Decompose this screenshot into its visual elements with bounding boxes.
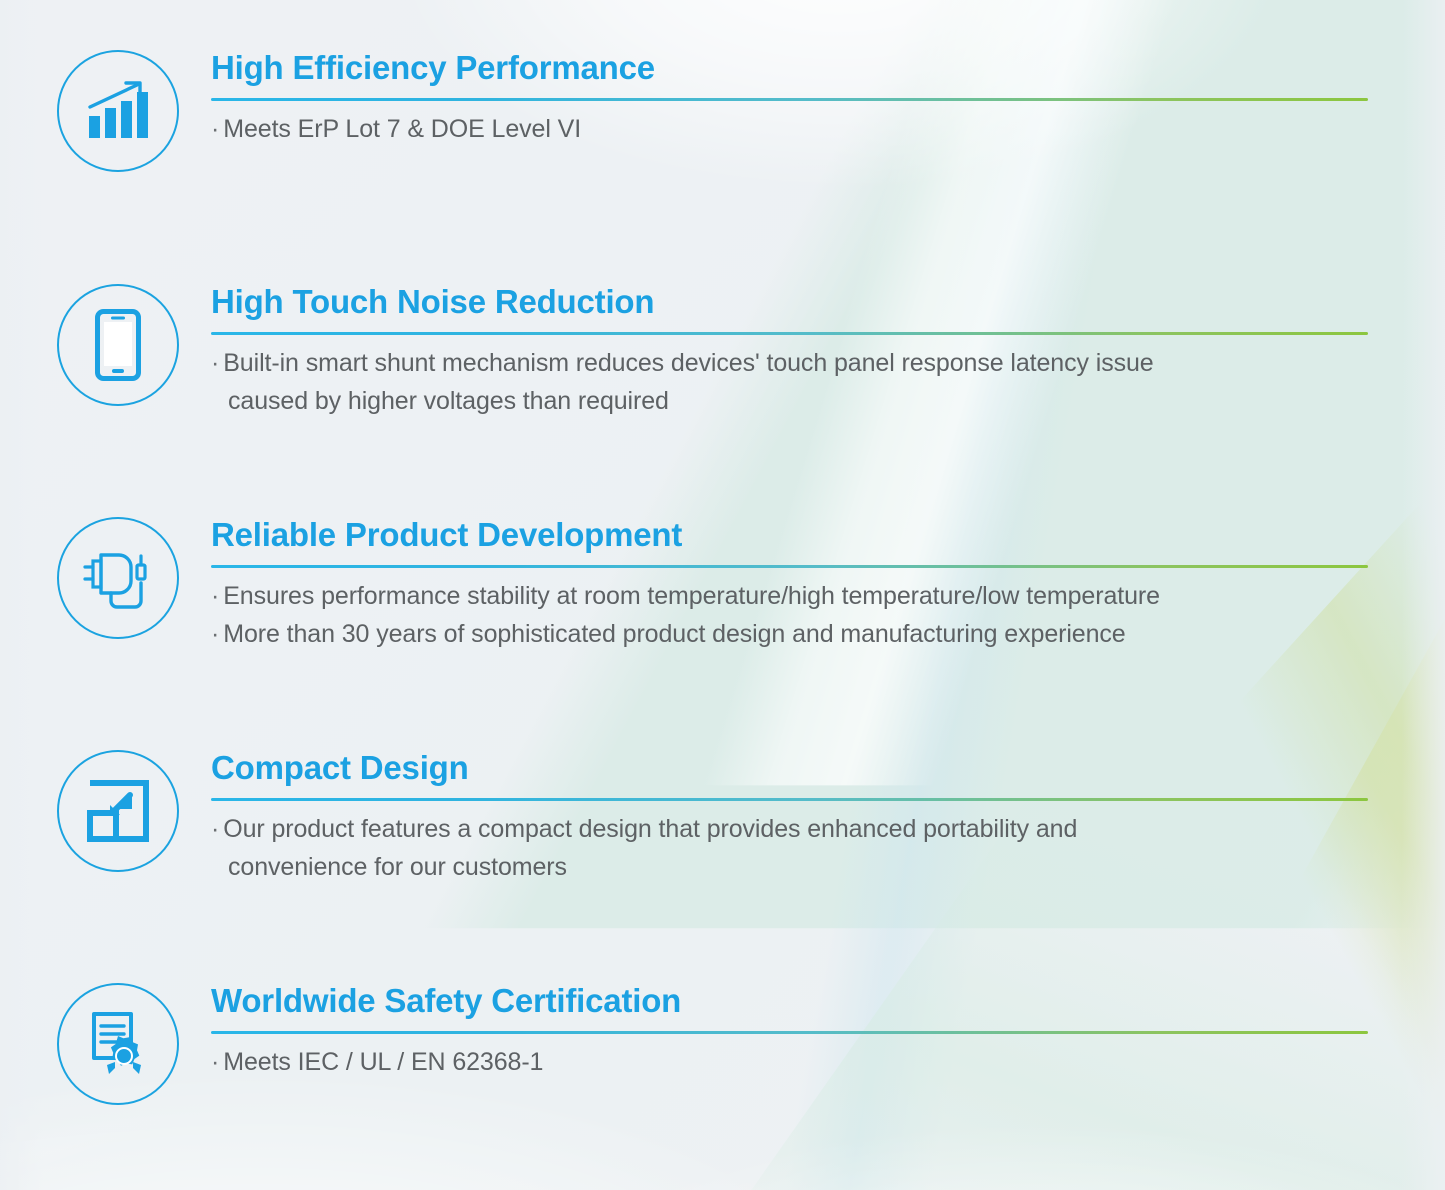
- feature-bullet-line: ·Built-in smart shunt mechanism reduces …: [211, 345, 1369, 420]
- feature-bullet-line: ·More than 30 years of sophisticated pro…: [211, 616, 1369, 654]
- bullet-marker: ·: [211, 582, 223, 610]
- bullet-marker: ·: [211, 349, 223, 377]
- bullet-marker: ·: [211, 620, 223, 648]
- feature-title: Worldwide Safety Certification: [211, 983, 1369, 1019]
- feature-text-block: High Efficiency Performance ·Meets ErP L…: [211, 50, 1369, 149]
- feature-divider-rule: [211, 1031, 1368, 1034]
- feature-bullet-line: ·Ensures performance stability at room t…: [211, 578, 1369, 616]
- bullet-text-continuation: caused by higher voltages than required: [211, 383, 1369, 421]
- bullet-text: Built-in smart shunt mechanism reduces d…: [223, 349, 1153, 377]
- feature-icon-container: [57, 50, 179, 172]
- feature-bullet-list: ·Ensures performance stability at room t…: [211, 578, 1369, 653]
- feature-title: Reliable Product Development: [211, 517, 1369, 553]
- compact-resize-icon: [57, 750, 179, 872]
- feature-title: Compact Design: [211, 750, 1369, 786]
- feature-divider-rule: [211, 332, 1368, 335]
- bullet-text: Our product features a compact design th…: [223, 815, 1077, 843]
- bullet-text: Meets ErP Lot 7 & DOE Level VI: [223, 115, 581, 143]
- feature-bullet-list: ·Meets IEC / UL / EN 62368-1: [211, 1044, 1369, 1082]
- feature-text-block: High Touch Noise Reduction ·Built-in sma…: [211, 284, 1369, 420]
- feature-title: High Touch Noise Reduction: [211, 284, 1369, 320]
- bullet-text: More than 30 years of sophisticated prod…: [223, 620, 1125, 648]
- feature-bullet-line: ·Meets IEC / UL / EN 62368-1: [211, 1044, 1369, 1082]
- bullet-text: Ensures performance stability at room te…: [223, 582, 1160, 610]
- bullet-marker: ·: [211, 115, 223, 143]
- feature-bullet-line: ·Our product features a compact design t…: [211, 811, 1369, 886]
- feature-text-block: Reliable Product Development ·Ensures pe…: [211, 517, 1369, 653]
- feature-highlights-page: High Efficiency Performance ·Meets ErP L…: [0, 0, 1445, 1190]
- feature-text-block: Compact Design ·Our product features a c…: [211, 750, 1369, 886]
- bullet-marker: ·: [211, 1048, 223, 1076]
- feature-text-block: Worldwide Safety Certification ·Meets IE…: [211, 983, 1369, 1082]
- smartphone-icon: [57, 284, 179, 406]
- feature-bullet-list: ·Meets ErP Lot 7 & DOE Level VI: [211, 111, 1369, 149]
- power-adapter-icon: [57, 517, 179, 639]
- bullet-text: Meets IEC / UL / EN 62368-1: [223, 1048, 543, 1076]
- bullet-marker: ·: [211, 815, 223, 843]
- bullet-text-continuation: convenience for our customers: [211, 849, 1369, 887]
- feature-icon-container: [57, 983, 179, 1105]
- feature-icon-container: [57, 750, 179, 872]
- feature-bullet-line: ·Meets ErP Lot 7 & DOE Level VI: [211, 111, 1369, 149]
- feature-icon-container: [57, 284, 179, 406]
- feature-title: High Efficiency Performance: [211, 50, 1369, 86]
- feature-icon-container: [57, 517, 179, 639]
- feature-divider-rule: [211, 798, 1368, 801]
- feature-bullet-list: ·Our product features a compact design t…: [211, 811, 1369, 886]
- feature-divider-rule: [211, 98, 1368, 101]
- certificate-award-icon: [57, 983, 179, 1105]
- feature-bullet-list: ·Built-in smart shunt mechanism reduces …: [211, 345, 1369, 420]
- bar-chart-growth-icon: [57, 50, 179, 172]
- feature-divider-rule: [211, 565, 1368, 568]
